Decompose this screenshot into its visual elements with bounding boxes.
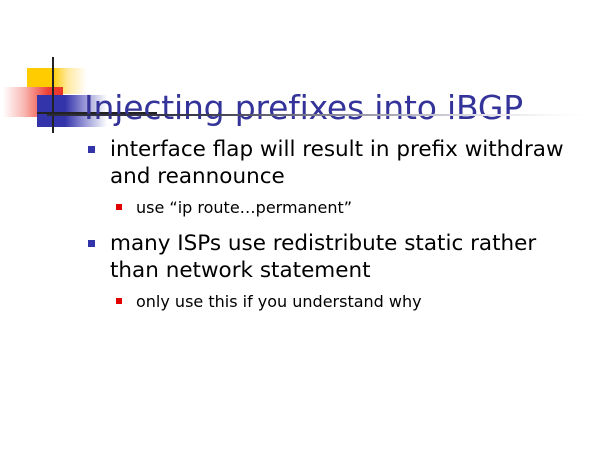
title-underline-rule <box>47 114 592 116</box>
presentation-slide: Injecting prefixes into iBGP interface f… <box>0 0 600 450</box>
slide-body: interface flap will result in prefix wit… <box>0 136 600 321</box>
bullet-item-level1: interface flap will result in prefix wit… <box>0 136 600 190</box>
square-marker-blue-icon <box>88 146 95 153</box>
slide-title: Injecting prefixes into iBGP <box>84 88 523 128</box>
square-marker-blue-icon <box>88 240 95 247</box>
bullet-text: only use this if you understand why <box>136 292 422 311</box>
bullet-item-level2: only use this if you understand why <box>0 291 600 312</box>
bullet-text: use “ip route…permanent” <box>136 198 352 217</box>
bullet-text: interface flap will result in prefix wit… <box>110 137 564 189</box>
square-marker-red-icon <box>116 204 122 210</box>
bullet-item-level2: use “ip route…permanent” <box>0 197 600 218</box>
vertical-rule-icon <box>52 57 54 133</box>
square-marker-red-icon <box>116 298 122 304</box>
bullet-item-level1: many ISPs use redistribute static rather… <box>0 230 600 284</box>
bullet-text: many ISPs use redistribute static rather… <box>110 231 536 283</box>
